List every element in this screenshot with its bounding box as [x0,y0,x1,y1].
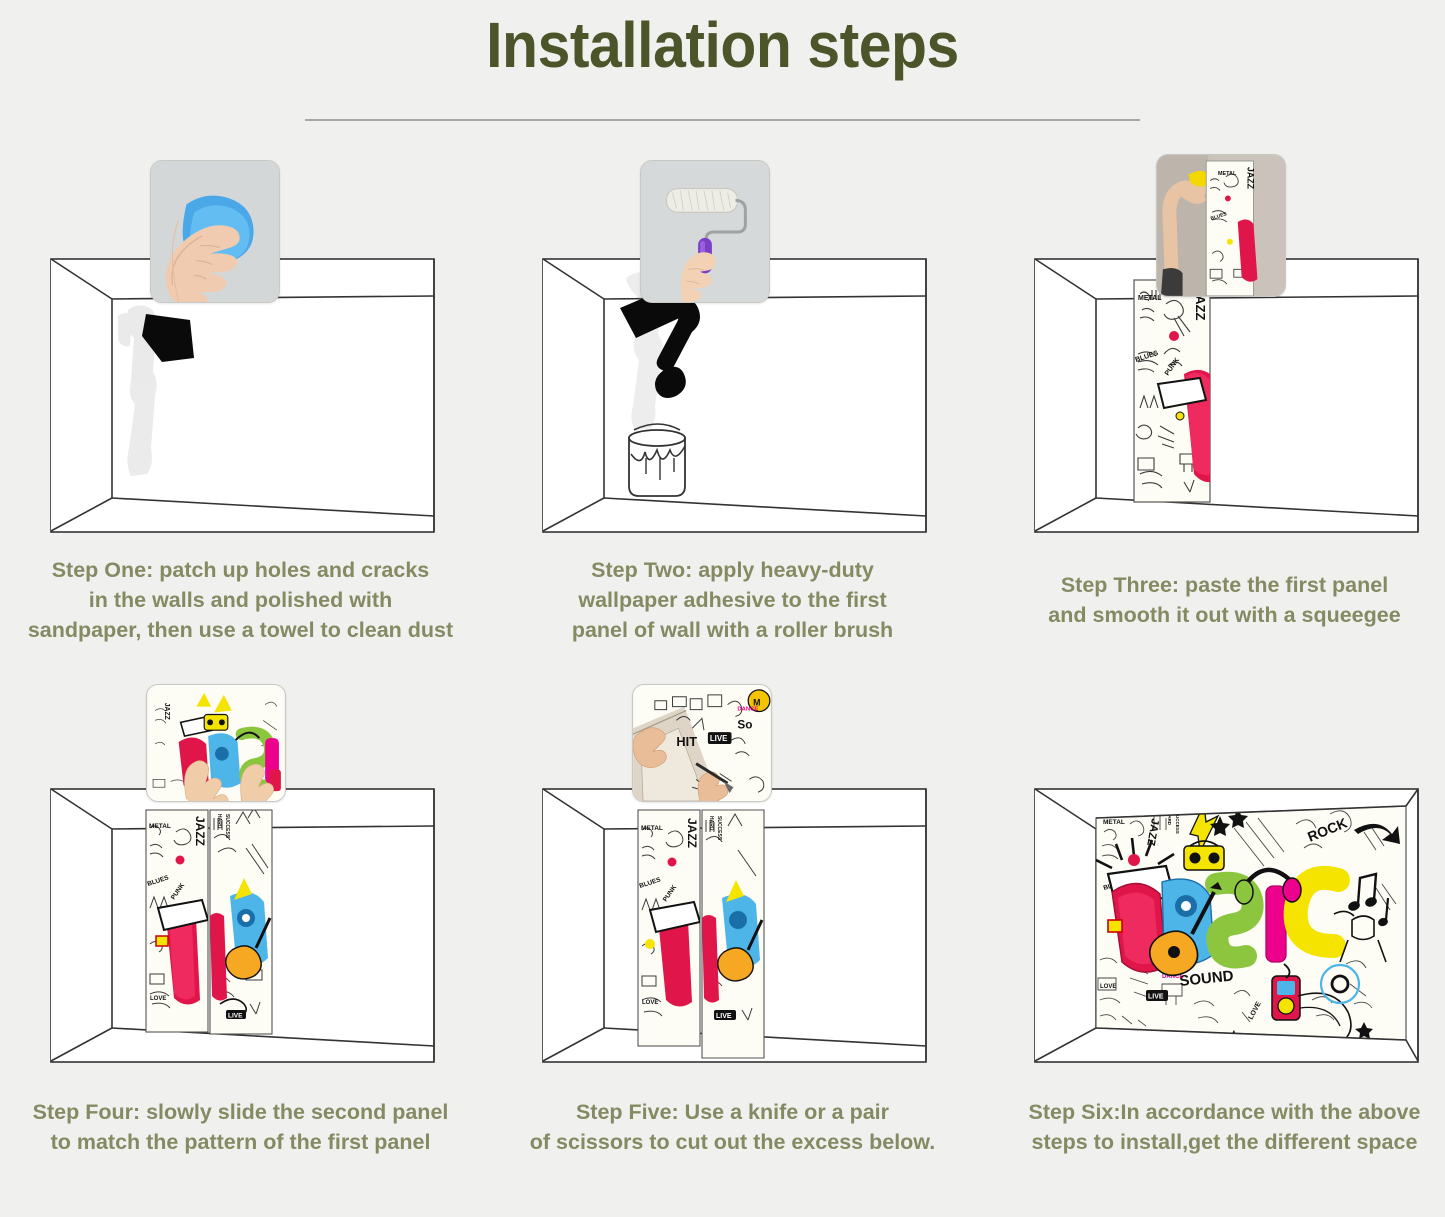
room-diagram-step-three: JAZZ METAL BLUES PUNK [1034,258,1419,533]
caption-line: to match the pattern of the first panel [0,1127,481,1157]
svg-text:JAZZ: JAZZ [193,816,207,846]
svg-text:So: So [737,718,752,731]
caption-step-three: Step Three: paste the first panel and sm… [984,570,1445,630]
svg-text:METAL: METAL [149,823,171,830]
svg-text:SUCCESS: SUCCESS [224,814,230,839]
caption-line: Step Three: paste the first panel [984,570,1445,600]
room-diagram-step-five: METAL JAZZ BLUES PUNK LOVE [542,788,927,1063]
svg-text:JAZZ: JAZZ [1246,167,1256,190]
caption-line: panel of wall with a roller brush [492,615,973,645]
steps-row-top: Step One: patch up holes and cracks in t… [0,150,1445,680]
caption-line: Step Four: slowly slide the second panel [0,1097,481,1127]
svg-text:METAL: METAL [1218,171,1237,177]
caption-line: in the walls and polished with [0,585,481,615]
caption-line: Step One: patch up holes and cracks [0,555,481,585]
step-card-step-five: METAL JAZZ BLUES PUNK LOVE [492,680,973,1210]
step-card-step-two: Step Two: apply heavy-duty wallpaper adh… [492,150,973,680]
inset-photo-step-two [640,160,770,303]
caption-line: and smooth it out with a squeegee [984,600,1445,630]
step-card-step-one: Step One: patch up holes and cracks in t… [0,150,481,680]
wallpaper-panel-1: JAZZ METAL BLUES PUNK [1134,280,1220,502]
svg-text:METAL: METAL [1138,295,1162,302]
caption-line: wallpaper adhesive to the first [492,585,973,615]
inset-photo-step-five: HIT LIVE So M DANCE [632,684,772,802]
room-diagram-step-six: METAL JAZZ HARD SUCCESS BLUES PUNK ROCK … [1034,788,1419,1063]
svg-text:METAL: METAL [641,825,663,832]
steps-grid: Step One: patch up holes and cracks in t… [0,150,1445,1210]
wallpaper-panel-1: METAL JAZZ BLUES PUNK LOVE [146,810,208,1032]
svg-text:METAL: METAL [1103,819,1125,826]
svg-text:LOVE: LOVE [150,996,166,1002]
svg-text:LIVE: LIVE [1148,994,1164,1001]
svg-text:LIVE: LIVE [228,1013,243,1020]
wallpaper-panel-2-with-excess: HARD SUCCESS LIVE [702,810,764,1058]
inset-photo-step-one [150,160,280,303]
installation-steps-infographic: Installation steps [0,0,1445,1217]
caption-line: steps to install,get the different space [984,1127,1445,1157]
room-diagram-step-four: METAL JAZZ BLUES PUNK LOVE [50,788,435,1063]
wallpaper-panel-1: METAL JAZZ BLUES PUNK LOVE [638,810,700,1046]
inset-photo-step-four: JAZZ [146,684,286,802]
svg-text:LIVE: LIVE [716,1013,732,1020]
svg-text:LOVE: LOVE [1100,984,1116,990]
caption-step-two: Step Two: apply heavy-duty wallpaper adh… [492,555,973,645]
caption-step-four: Step Four: slowly slide the second panel… [0,1097,481,1157]
step-card-step-six: METAL JAZZ HARD SUCCESS BLUES PUNK ROCK … [984,680,1445,1210]
svg-text:LIVE: LIVE [710,734,727,743]
svg-text:SUCCESS: SUCCESS [716,816,722,841]
music-mural: METAL JAZZ HARD SUCCESS BLUES PUNK ROCK … [1096,803,1406,1046]
caption-step-one: Step One: patch up holes and cracks in t… [0,555,481,645]
caption-line: Step Five: Use a knife or a pair [492,1097,973,1127]
title-divider [305,119,1140,121]
caption-line: Step Six:In accordance with the above [984,1097,1445,1127]
svg-text:JAZZ: JAZZ [163,703,170,720]
steps-row-bottom: METAL JAZZ BLUES PUNK LOVE [0,680,1445,1210]
caption-step-five: Step Five: Use a knife or a pair of scis… [492,1097,973,1157]
svg-text:DANCE: DANCE [737,707,758,713]
paint-bucket-icon [629,424,685,496]
inset-photo-step-three: METAL JAZZ BLUES [1156,154,1286,297]
caption-line: of scissors to cut out the excess below. [492,1127,973,1157]
step-card-step-four: METAL JAZZ BLUES PUNK LOVE [0,680,481,1210]
svg-text:HARD: HARD [216,814,222,829]
svg-text:JAZZ: JAZZ [685,818,699,848]
wallpaper-panel-2: HARD SUCCESS [210,808,272,1034]
svg-text:HARD: HARD [708,816,714,831]
svg-text:LOVE: LOVE [642,1000,658,1006]
caption-line: Step Two: apply heavy-duty [492,555,973,585]
step-card-step-three: JAZZ METAL BLUES PUNK [984,150,1445,680]
svg-text:HIT: HIT [676,734,697,749]
page-title: Installation steps [58,8,1387,82]
caption-line: sandpaper, then use a towel to clean dus… [0,615,481,645]
caption-step-six: Step Six:In accordance with the above st… [984,1097,1445,1157]
